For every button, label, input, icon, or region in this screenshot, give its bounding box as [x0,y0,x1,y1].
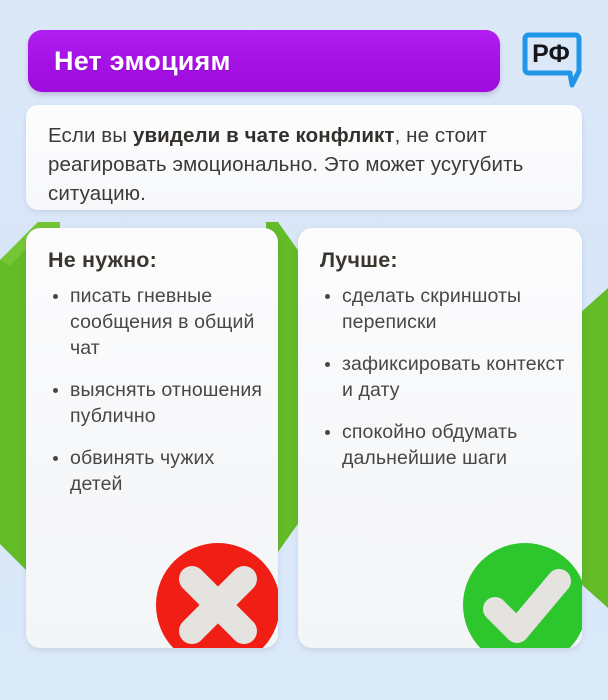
title-banner: Нет эмоциям [28,30,500,92]
list-item: выяснять отношения публично [48,377,264,429]
info-card: Если вы увидели в чате конфликт, не стои… [26,105,582,210]
info-text-bold: увидели в чате конфликт [133,124,395,147]
info-paragraph: Если вы увидели в чате конфликт, не стои… [48,121,560,208]
list-item: сделать скриншоты переписки [320,283,568,335]
list-item: зафиксировать контекст и дату [320,351,568,403]
list-item: писать гневные сообщения в общий чат [48,283,264,361]
column-heading-do-not: Не нужно: [48,248,264,273]
column-do-not: Не нужно: писать гневные сообщения в общ… [26,228,278,648]
page-title: Нет эмоциям [54,46,231,77]
header: Нет эмоциям РФ [0,30,608,92]
bullet-list-better: сделать скриншоты переписки зафиксироват… [320,283,568,471]
speech-bubble-icon: РФ [520,31,584,91]
bullet-list-do-not: писать гневные сообщения в общий чат выя… [48,283,264,497]
info-text-before: Если вы [48,124,133,147]
list-item: обвинять чужих детей [48,445,264,497]
column-heading-better: Лучше: [320,248,568,273]
rf-logo-text: РФ [532,40,570,68]
infographic-canvas: Нет эмоциям РФ Если вы увидели в чате ко… [0,0,608,700]
column-better: Лучше: сделать скриншоты переписки зафик… [298,228,582,648]
list-item: спокойно обдумать дальнейшие шаги [320,419,568,471]
